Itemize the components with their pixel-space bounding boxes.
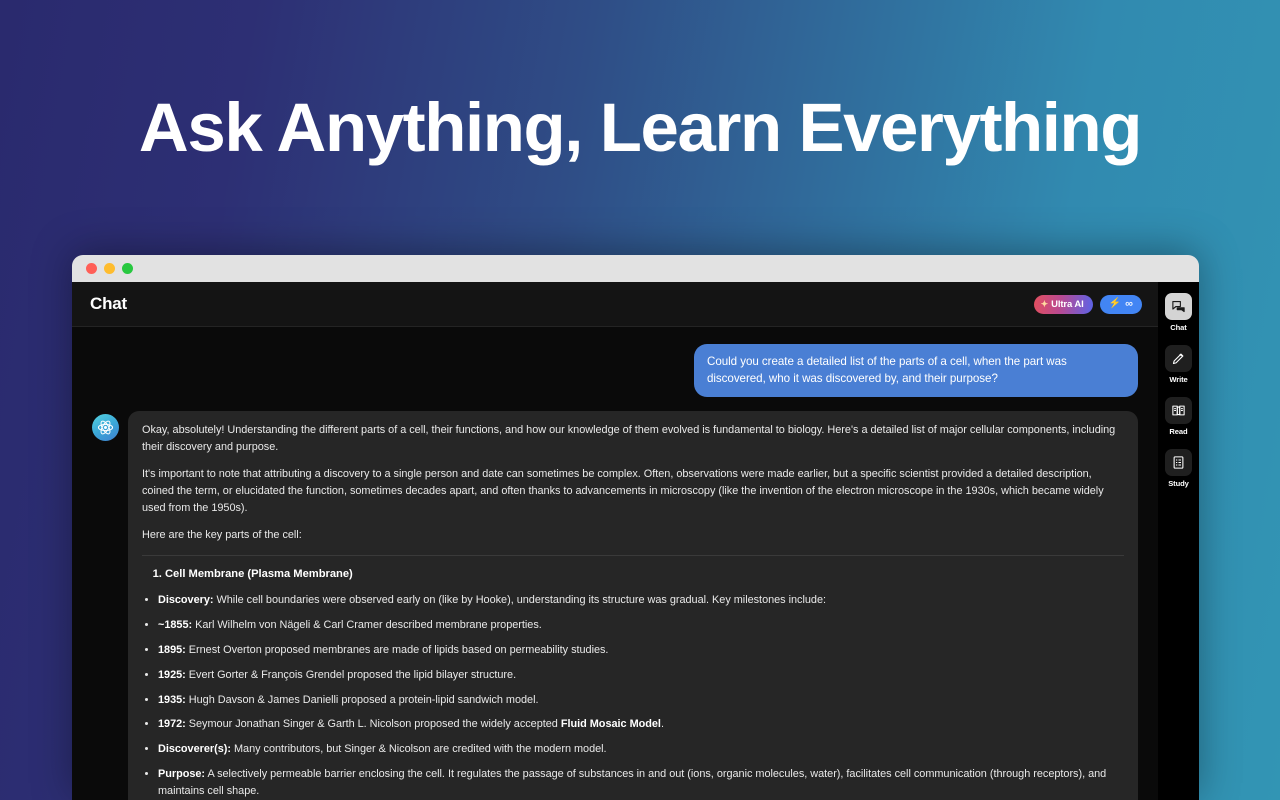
sidebar-item-chat[interactable]: Chat [1158, 293, 1199, 332]
header-actions: ✦ Ultra AI ⚡ ∞ [1034, 295, 1142, 314]
window-titlebar [72, 255, 1199, 282]
assistant-message-card: Okay, absolutely! Understanding the diff… [128, 411, 1138, 800]
list-item: ~1855: Karl Wilhelm von Nägeli & Carl Cr… [158, 617, 1124, 634]
bullet-label: 1935: [158, 694, 186, 706]
pencil-icon [1165, 345, 1192, 372]
bullet-tail: . [661, 718, 664, 730]
page-title: Ask Anything, Learn Everything [139, 93, 1141, 162]
avatar [92, 414, 119, 441]
open-book-icon [1165, 397, 1192, 424]
right-sidebar: Chat Write [1158, 282, 1199, 800]
section-heading: Cell Membrane (Plasma Membrane) [165, 568, 353, 580]
credits-value: ∞ [1125, 299, 1133, 310]
bullet-emphasis: Fluid Mosaic Model [561, 718, 661, 730]
sidebar-item-study[interactable]: Study [1158, 449, 1199, 488]
maximize-button[interactable] [122, 263, 133, 274]
app-title: Chat [90, 294, 127, 314]
assistant-paragraph: Here are the key parts of the cell: [142, 527, 1124, 544]
bullet-label: Discovery: [158, 594, 214, 606]
sidebar-item-label: Write [1169, 375, 1187, 384]
bullet-label: 1925: [158, 669, 186, 681]
sidebar-item-label: Read [1169, 427, 1187, 436]
bullet-text: Ernest Overton proposed membranes are ma… [186, 644, 609, 656]
bullet-label: 1895: [158, 644, 186, 656]
list-item: Discovery: While cell boundaries were ob… [158, 592, 1124, 609]
sparkle-icon: ✦ [1041, 300, 1048, 309]
bullet-label: Discoverer(s): [158, 743, 231, 755]
list-item: Purpose: A selectively permeable barrier… [158, 766, 1124, 800]
checklist-icon [1165, 449, 1192, 476]
cell-parts-list: Cell Membrane (Plasma Membrane) Discover… [142, 566, 1124, 800]
list-item: Discoverer(s): Many contributors, but Si… [158, 741, 1124, 758]
bullet-label: Purpose: [158, 768, 205, 780]
bullet-text: A selectively permeable barrier enclosin… [158, 768, 1106, 797]
bullet-text: While cell boundaries were observed earl… [214, 594, 827, 606]
sidebar-item-read[interactable]: Read [1158, 397, 1199, 436]
bullet-text: Hugh Davson & James Danielli proposed a … [186, 694, 539, 706]
list-item: 1935: Hugh Davson & James Danielli propo… [158, 692, 1124, 709]
section-bullets: Discovery: While cell boundaries were ob… [158, 592, 1124, 800]
sidebar-item-write[interactable]: Write [1158, 345, 1199, 384]
bullet-text: Karl Wilhelm von Nägeli & Carl Cramer de… [192, 619, 542, 631]
app-window: Chat ✦ Ultra AI ⚡ ∞ Could you create a d… [72, 255, 1199, 800]
sidebar-item-label: Study [1168, 479, 1189, 488]
user-message-row: Could you create a detailed list of the … [92, 344, 1138, 397]
bullet-text: Seymour Jonathan Singer & Garth L. Nicol… [186, 718, 561, 730]
ultra-ai-label: Ultra AI [1051, 299, 1084, 310]
list-item: 1925: Evert Gorter & François Grendel pr… [158, 667, 1124, 684]
sidebar-item-label: Chat [1170, 323, 1186, 332]
minimize-button[interactable] [104, 263, 115, 274]
assistant-paragraph: Okay, absolutely! Understanding the diff… [142, 422, 1124, 456]
list-item: 1972: Seymour Jonathan Singer & Garth L.… [158, 716, 1124, 733]
chat-scroll-area[interactable]: Could you create a detailed list of the … [72, 327, 1158, 800]
bullet-text: Evert Gorter & François Grendel proposed… [186, 669, 516, 681]
list-item: 1895: Ernest Overton proposed membranes … [158, 642, 1124, 659]
list-item: Cell Membrane (Plasma Membrane) Discover… [165, 566, 1124, 800]
app-header: Chat ✦ Ultra AI ⚡ ∞ [72, 282, 1158, 327]
bullet-label: ~1855: [158, 619, 192, 631]
credits-button[interactable]: ⚡ ∞ [1100, 295, 1142, 314]
close-button[interactable] [86, 263, 97, 274]
ultra-ai-button[interactable]: ✦ Ultra AI [1034, 295, 1093, 314]
atom-icon [97, 419, 114, 436]
chat-bubbles-icon [1165, 293, 1192, 320]
bullet-label: 1972: [158, 718, 186, 730]
bullet-text: Many contributors, but Singer & Nicolson… [231, 743, 607, 755]
bolt-icon: ⚡ [1109, 299, 1121, 309]
window-body: Chat ✦ Ultra AI ⚡ ∞ Could you create a d… [72, 282, 1199, 800]
content-divider [142, 555, 1124, 556]
assistant-paragraph: It's important to note that attributing … [142, 466, 1124, 517]
assistant-message-row: Okay, absolutely! Understanding the diff… [92, 411, 1138, 800]
hero-banner: Ask Anything, Learn Everything [0, 0, 1280, 255]
main-column: Chat ✦ Ultra AI ⚡ ∞ Could you create a d… [72, 282, 1158, 800]
user-message-bubble: Could you create a detailed list of the … [694, 344, 1138, 397]
